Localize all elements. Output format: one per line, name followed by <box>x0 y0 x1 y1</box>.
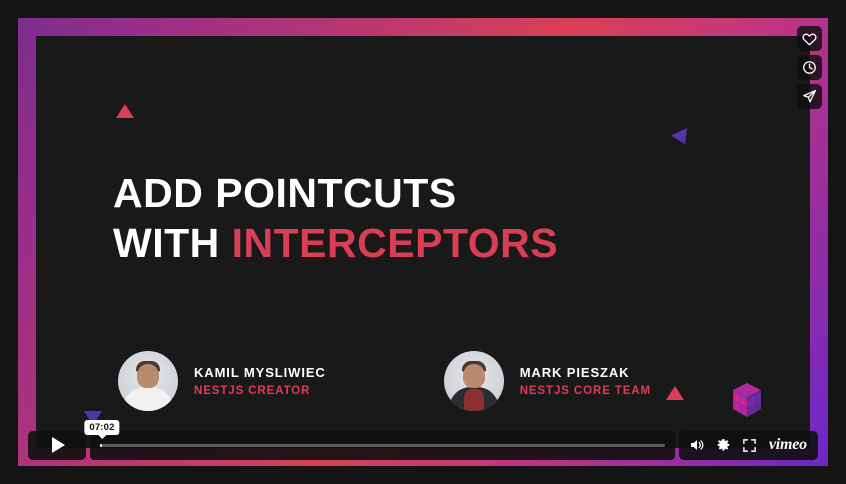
slide-title-line-2-plain: WITH <box>113 220 232 266</box>
share-button[interactable] <box>797 84 822 109</box>
nestjs-cube-logo <box>732 383 762 417</box>
clock-icon <box>802 60 817 75</box>
speaker-name: KAMIL MYSLIWIEC <box>194 365 326 380</box>
avatar-body <box>123 387 173 411</box>
heart-icon <box>802 31 817 46</box>
page-root: ADD POINTCUTS WITH INTERCEPTORS KAMIL MY… <box>0 0 846 484</box>
triangle-purple-upper-right <box>671 128 693 148</box>
like-button[interactable] <box>797 26 822 51</box>
speakers-row: KAMIL MYSLIWIEC NESTJS CREATOR MARK PIES… <box>118 351 651 411</box>
speaker-meta: KAMIL MYSLIWIEC NESTJS CREATOR <box>194 365 326 397</box>
slide-title-line-2: WITH INTERCEPTORS <box>113 218 558 268</box>
fullscreen-icon <box>742 438 757 453</box>
gear-icon <box>716 438 731 453</box>
video-player-frame: ADD POINTCUTS WITH INTERCEPTORS KAMIL MY… <box>18 18 828 466</box>
volume-button[interactable] <box>689 437 705 453</box>
avatar <box>444 351 504 411</box>
progress-played <box>100 444 102 447</box>
avatar-head <box>463 364 485 388</box>
right-controls-group: vimeo <box>679 431 818 460</box>
current-time-tooltip: 07:02 <box>84 420 119 435</box>
triangle-up-red-top-left <box>116 104 134 118</box>
speaker-meta: MARK PIESZAK NESTJS CORE TEAM <box>520 365 651 397</box>
settings-button[interactable] <box>716 438 731 453</box>
slide-title-line-1: ADD POINTCUTS <box>113 168 558 218</box>
video-stage[interactable]: ADD POINTCUTS WITH INTERCEPTORS KAMIL MY… <box>36 36 810 448</box>
player-controls: 07:02 <box>28 430 818 460</box>
slide-title-line-2-accent: INTERCEPTORS <box>232 220 558 266</box>
avatar <box>118 351 178 411</box>
progress-track[interactable]: 07:02 <box>100 444 665 447</box>
speaker-card: MARK PIESZAK NESTJS CORE TEAM <box>444 351 651 411</box>
volume-icon <box>689 437 705 453</box>
speaker-role: NESTJS CORE TEAM <box>520 385 651 397</box>
triangle-up-red-bottom-right <box>666 386 684 400</box>
seek-bar[interactable]: 07:02 <box>90 431 675 460</box>
vimeo-logo[interactable]: vimeo <box>769 436 807 454</box>
fullscreen-button[interactable] <box>742 438 757 453</box>
avatar-head <box>137 364 159 388</box>
paper-plane-icon <box>802 89 817 104</box>
watch-later-button[interactable] <box>797 55 822 80</box>
play-button[interactable] <box>28 431 86 460</box>
side-action-buttons <box>797 26 822 109</box>
speaker-name: MARK PIESZAK <box>520 365 651 380</box>
play-icon <box>52 437 65 453</box>
slide-title: ADD POINTCUTS WITH INTERCEPTORS <box>113 168 558 268</box>
speaker-role: NESTJS CREATOR <box>194 385 326 397</box>
avatar-shirt <box>464 389 484 411</box>
speaker-card: KAMIL MYSLIWIEC NESTJS CREATOR <box>118 351 326 411</box>
